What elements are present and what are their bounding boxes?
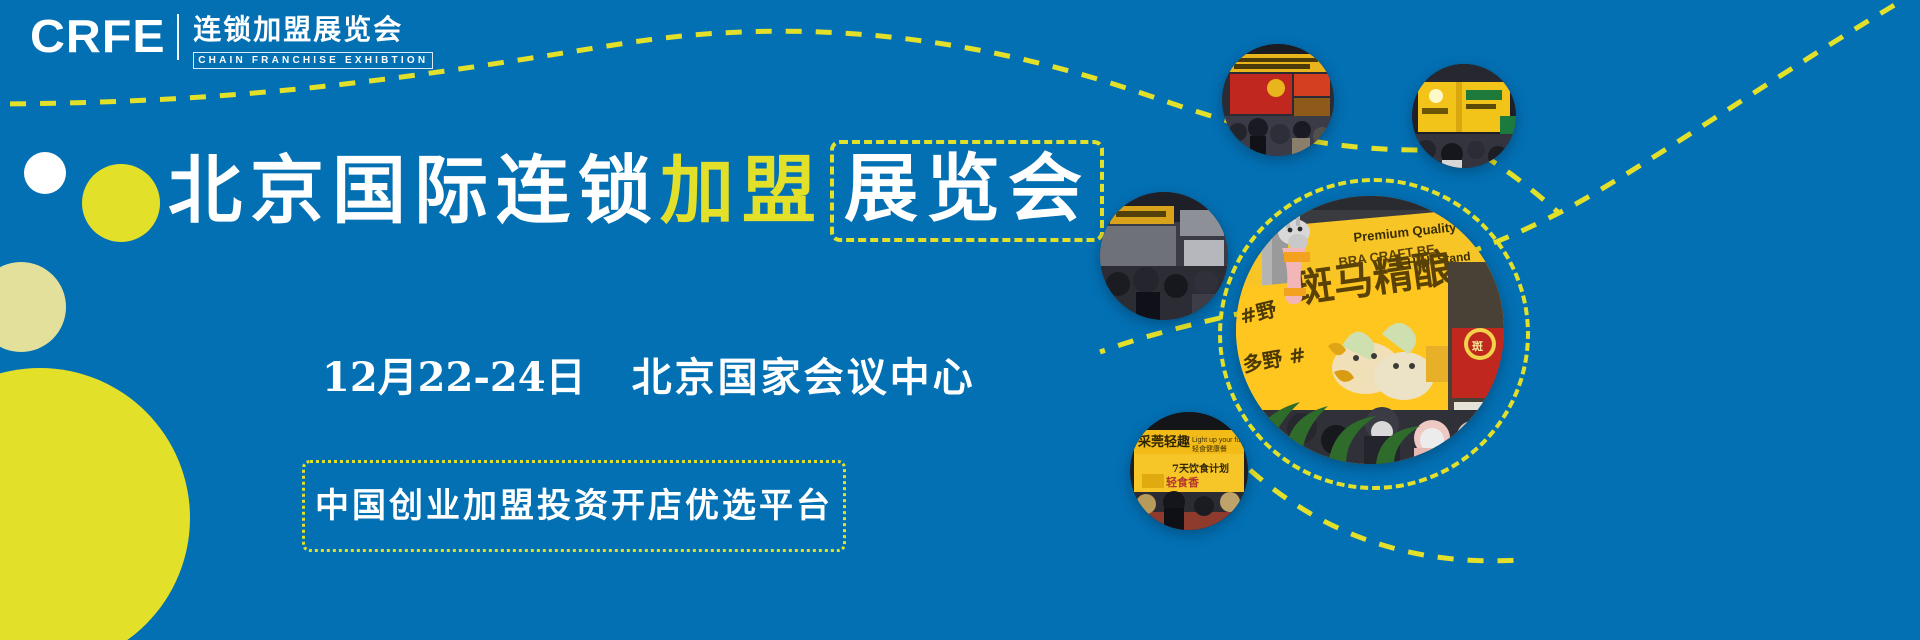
svg-text:斑: 斑 (1472, 339, 1483, 353)
banner-root: CRFE 连锁加盟展览会 CHAIN FRANCHISE EXHIBTION 北… (0, 0, 1920, 640)
title-segment-primary: 北京国际连锁 (168, 148, 660, 234)
decor-dot-white (24, 152, 66, 194)
logo-chinese-name: 连锁加盟展览会 (193, 12, 433, 48)
logo-english-frame: CHAIN FRANCHISE EXHIBTION (193, 52, 433, 69)
logo-divider (177, 14, 179, 60)
logo-wordmark: CRFE (30, 10, 166, 62)
page-title: 北京国际连锁 加盟 展览会 (168, 140, 1104, 242)
tagline-text: 中国创业加盟投资开店优选平台 (315, 485, 833, 527)
title-segment-highlight: 加盟 (660, 148, 824, 234)
svg-text:采莞轻趣: 采莞轻趣 (1137, 434, 1191, 450)
svg-text:轻食健康餐: 轻食健康餐 (1192, 444, 1227, 453)
photo-booth-zebra-craft-beer: Premium Quality & High Stand 斑马精酿 BRA CR… (1236, 196, 1504, 464)
decor-circle-yellow-large (0, 368, 190, 640)
brand-logo: CRFE 连锁加盟展览会 CHAIN FRANCHISE EXHIBTION (30, 10, 433, 69)
photo-booth-crowd-gold-sign (1100, 192, 1228, 320)
photo-booth-chicken-hotline (1222, 44, 1334, 156)
svg-text:Light up your fun: Light up your fun (1192, 437, 1244, 444)
svg-text:7天饮食计划: 7天饮食计划 (1172, 462, 1229, 475)
title-segment-boxed: 展览会 (830, 140, 1104, 242)
decor-dot-pale (0, 262, 66, 352)
decor-dashed-curves (0, 0, 1920, 640)
decor-dot-yellow-small (82, 164, 160, 242)
event-meta: 12月22-24日 北京国家会议中心 (322, 352, 976, 404)
tagline-frame: 中国创业加盟投资开店优选平台 (302, 460, 846, 552)
logo-english-name: CHAIN FRANCHISE EXHIBTION (198, 54, 428, 67)
photo-booth-light-up-your-fun: 采莞轻趣 Light up your fun 轻食健康餐 7天饮食计划 轻食香 (1130, 412, 1248, 530)
svg-text:轻食香: 轻食香 (1166, 475, 1200, 489)
photo-booth-yellow-light-meal (1412, 64, 1516, 168)
event-venue: 北京国家会议中心 (632, 352, 976, 404)
event-date: 12月22-24日 (322, 352, 586, 404)
logo-text-block: 连锁加盟展览会 CHAIN FRANCHISE EXHIBTION (193, 10, 433, 69)
